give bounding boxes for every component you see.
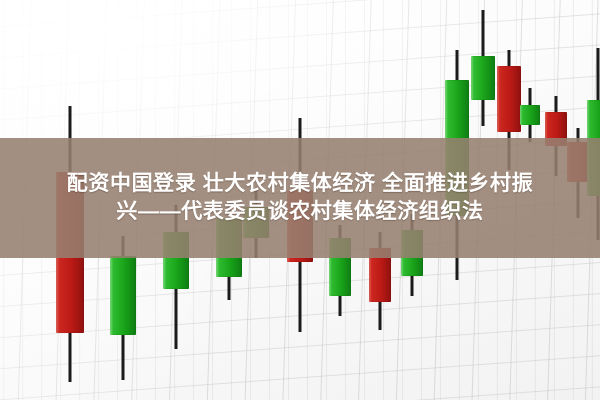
caption-band: 配资中国登录 壮大农村集体经济 全面推进乡村振 兴——代表委员谈农村集体经济组织…: [0, 138, 600, 258]
candlestick: [520, 88, 540, 142]
candle-body-down: [497, 66, 521, 132]
candlestick: [471, 10, 495, 126]
caption-line-1: 配资中国登录 壮大农村集体经济 全面推进乡村振: [67, 170, 533, 198]
candle-body-up: [110, 256, 136, 335]
candle-body-up: [520, 105, 540, 125]
screenshot-root: 配资中国登录 壮大农村集体经济 全面推进乡村振 兴——代表委员谈农村集体经济组织…: [0, 0, 600, 400]
candle-body-up: [471, 56, 495, 100]
caption-line-2: 兴——代表委员谈农村集体经济组织法: [116, 198, 483, 226]
